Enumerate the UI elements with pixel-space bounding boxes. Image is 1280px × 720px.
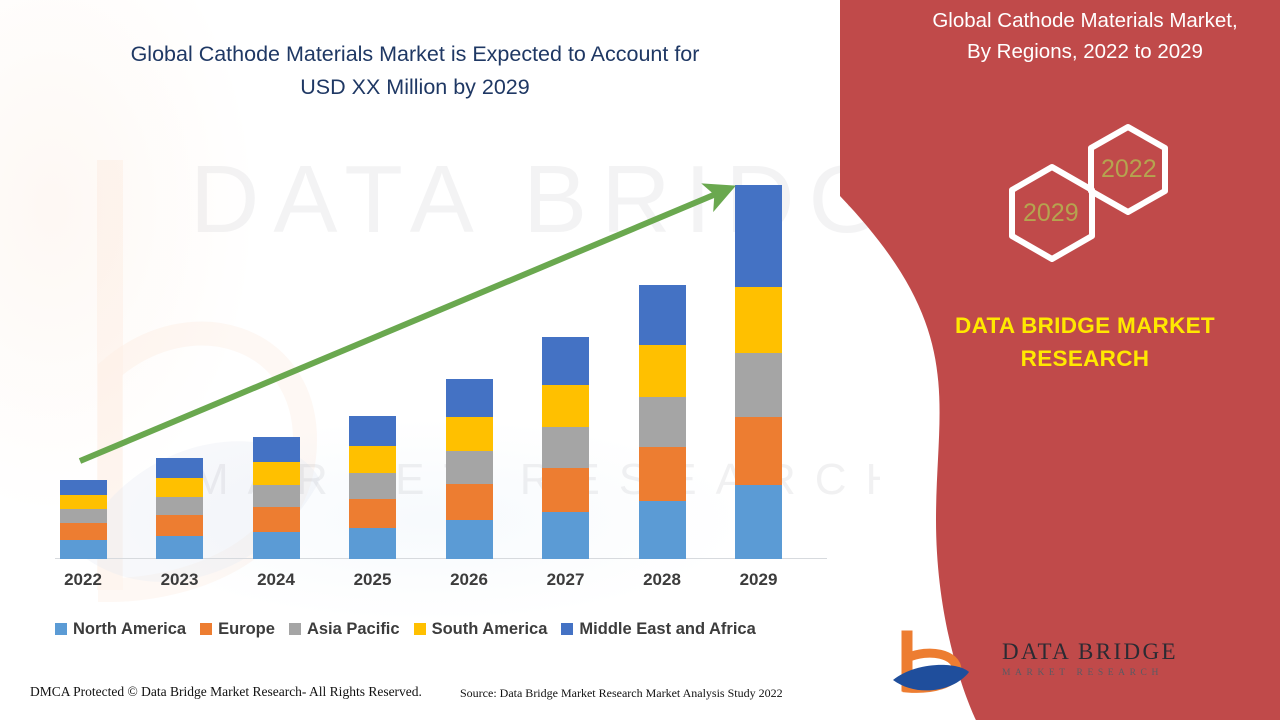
legend-item[interactable]: Asia Pacific bbox=[289, 620, 400, 639]
bar-segment bbox=[735, 287, 782, 353]
bar-segment bbox=[446, 379, 493, 417]
x-axis-labels: 20222023202420252026202720282029 bbox=[55, 570, 845, 596]
bar-segment bbox=[542, 337, 589, 385]
bar-segment bbox=[639, 397, 686, 447]
x-axis-label-2024: 2024 bbox=[228, 570, 324, 590]
legend-item[interactable]: Middle East and Africa bbox=[561, 620, 755, 639]
hexagon-front-year: 2029 bbox=[1023, 199, 1079, 228]
bar-segment bbox=[735, 485, 782, 559]
bar-segment bbox=[542, 385, 589, 427]
legend-swatch-icon bbox=[561, 623, 573, 635]
bar-2026[interactable] bbox=[446, 379, 493, 559]
company-logo-name: DATA BRIDGE bbox=[1002, 640, 1178, 663]
x-axis-label-2027: 2027 bbox=[518, 570, 614, 590]
hexagon-back-year: 2022 bbox=[1101, 155, 1157, 184]
company-logo-tagline: MARKET RESEARCH bbox=[1002, 669, 1178, 679]
panel-title-line-2: By Regions, 2022 to 2029 bbox=[890, 37, 1280, 68]
panel-title-line-1: Global Cathode Materials Market, bbox=[890, 6, 1280, 37]
stacked-bar-series bbox=[55, 150, 845, 559]
legend-item[interactable]: North America bbox=[55, 620, 186, 639]
legend-swatch-icon bbox=[289, 623, 301, 635]
panel-title: Global Cathode Materials Market, By Regi… bbox=[890, 0, 1280, 68]
legend-swatch-icon bbox=[200, 623, 212, 635]
x-axis-label-2023: 2023 bbox=[132, 570, 228, 590]
chart-legend: North AmericaEuropeAsia PacificSouth Ame… bbox=[55, 616, 845, 642]
legend-label: North America bbox=[73, 620, 186, 639]
legend-label: Europe bbox=[218, 620, 275, 639]
bar-segment bbox=[349, 499, 396, 528]
bar-segment bbox=[349, 473, 396, 499]
x-axis-label-2026: 2026 bbox=[421, 570, 517, 590]
brand-line-1: DATA BRIDGE MARKET bbox=[890, 310, 1280, 343]
brand-name: DATA BRIDGE MARKET RESEARCH bbox=[890, 310, 1280, 375]
bar-2027[interactable] bbox=[542, 337, 589, 559]
bar-segment bbox=[60, 509, 107, 523]
legend-item[interactable]: South America bbox=[414, 620, 548, 639]
bar-segment bbox=[253, 485, 300, 507]
bar-2025[interactable] bbox=[349, 416, 396, 559]
bar-segment bbox=[446, 417, 493, 451]
bar-segment bbox=[60, 523, 107, 540]
bar-segment bbox=[639, 345, 686, 397]
legend-label: Asia Pacific bbox=[307, 620, 400, 639]
bar-segment bbox=[542, 427, 589, 468]
bar-segment bbox=[542, 468, 589, 512]
bar-segment bbox=[253, 462, 300, 485]
bar-2028[interactable] bbox=[639, 285, 686, 559]
page-title: Global Cathode Materials Market is Expec… bbox=[70, 38, 760, 105]
bar-segment bbox=[446, 520, 493, 559]
bar-segment bbox=[253, 437, 300, 462]
x-axis-label-2025: 2025 bbox=[325, 570, 421, 590]
bar-segment bbox=[446, 484, 493, 520]
bar-segment bbox=[735, 353, 782, 417]
bar-segment bbox=[542, 512, 589, 559]
bar-2023[interactable] bbox=[156, 458, 203, 559]
bar-segment bbox=[446, 451, 493, 484]
footer-copyright: DMCA Protected © Data Bridge Market Rese… bbox=[30, 684, 422, 700]
bar-segment bbox=[60, 480, 107, 495]
page-title-line-2: USD XX Million by 2029 bbox=[70, 71, 760, 104]
bar-segment bbox=[349, 446, 396, 473]
legend-swatch-icon bbox=[55, 623, 67, 635]
bar-2029[interactable] bbox=[735, 185, 782, 559]
legend-swatch-icon bbox=[414, 623, 426, 635]
bar-segment bbox=[156, 515, 203, 536]
bar-segment bbox=[253, 507, 300, 532]
brand-line-2: RESEARCH bbox=[890, 343, 1280, 376]
bar-segment bbox=[156, 497, 203, 515]
x-axis-label-2028: 2028 bbox=[614, 570, 710, 590]
bar-2024[interactable] bbox=[253, 437, 300, 559]
bar-segment bbox=[349, 528, 396, 559]
bar-segment bbox=[349, 416, 396, 446]
bar-segment bbox=[60, 495, 107, 509]
bar-segment bbox=[156, 458, 203, 478]
bar-segment bbox=[253, 532, 300, 559]
legend-item[interactable]: Europe bbox=[200, 620, 275, 639]
bar-segment bbox=[639, 447, 686, 501]
infographic-root: DATA BRIDGE MARKET RESEARCH Global Catho… bbox=[0, 0, 1280, 720]
bar-segment bbox=[639, 285, 686, 345]
page-title-line-1: Global Cathode Materials Market is Expec… bbox=[70, 38, 760, 71]
hexagon-outline-icons bbox=[880, 112, 1280, 282]
x-axis-label-2029: 2029 bbox=[711, 570, 807, 590]
bar-segment bbox=[156, 478, 203, 497]
company-logo-text: DATA BRIDGE MARKET RESEARCH bbox=[1002, 640, 1178, 679]
bar-segment bbox=[735, 185, 782, 287]
footer-source: Source: Data Bridge Market Research Mark… bbox=[460, 686, 783, 701]
bar-segment bbox=[735, 417, 782, 485]
legend-label: South America bbox=[432, 620, 548, 639]
bar-2022[interactable] bbox=[60, 480, 107, 559]
red-panel-content: Global Cathode Materials Market, By Regi… bbox=[880, 0, 1280, 720]
bar-segment bbox=[60, 540, 107, 559]
bar-segment bbox=[639, 501, 686, 559]
bar-segment bbox=[156, 536, 203, 559]
legend-label: Middle East and Africa bbox=[579, 620, 755, 639]
x-axis-label-2022: 2022 bbox=[35, 570, 131, 590]
hexagon-badges: 2022 2029 bbox=[880, 112, 1280, 282]
